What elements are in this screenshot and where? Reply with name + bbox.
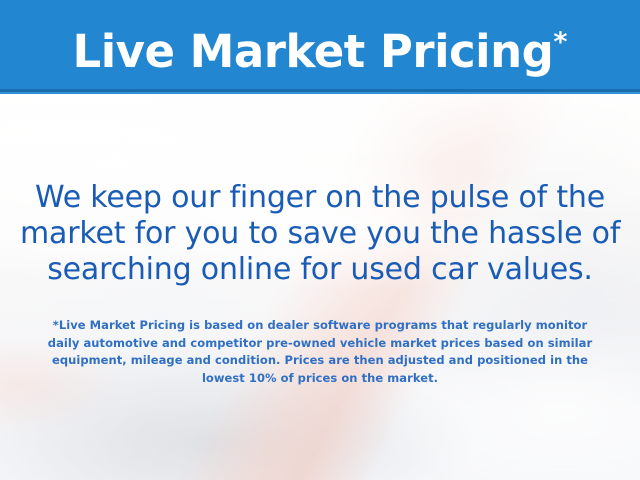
headline-line-1: We keep our finger on the pulse of the bbox=[20, 180, 620, 216]
disclaimer-line-3: equipment, mileage and condition. Prices… bbox=[26, 352, 614, 370]
header-band-bottom-rule-light bbox=[0, 92, 640, 94]
page-title: Live Market Pricing* bbox=[0, 14, 640, 81]
page-title-text: Live Market Pricing bbox=[73, 25, 554, 78]
headline-line-2: market for you to save you the hassle of bbox=[20, 216, 620, 252]
disclaimer-line-2: daily automotive and competitor pre-owne… bbox=[26, 335, 614, 353]
headline-line-3: searching online for used car values. bbox=[20, 252, 620, 288]
headline: We keep our finger on the pulse of the m… bbox=[20, 180, 620, 288]
disclaimer-line-4: lowest 10% of prices on the market. bbox=[26, 370, 614, 388]
disclaimer-line-1: *Live Market Pricing is based on dealer … bbox=[26, 317, 614, 335]
page-title-asterisk: * bbox=[553, 27, 567, 58]
live-market-pricing-banner: Live Market Pricing* We keep our finger … bbox=[0, 0, 640, 480]
disclaimer-text: *Live Market Pricing is based on dealer … bbox=[26, 317, 614, 387]
